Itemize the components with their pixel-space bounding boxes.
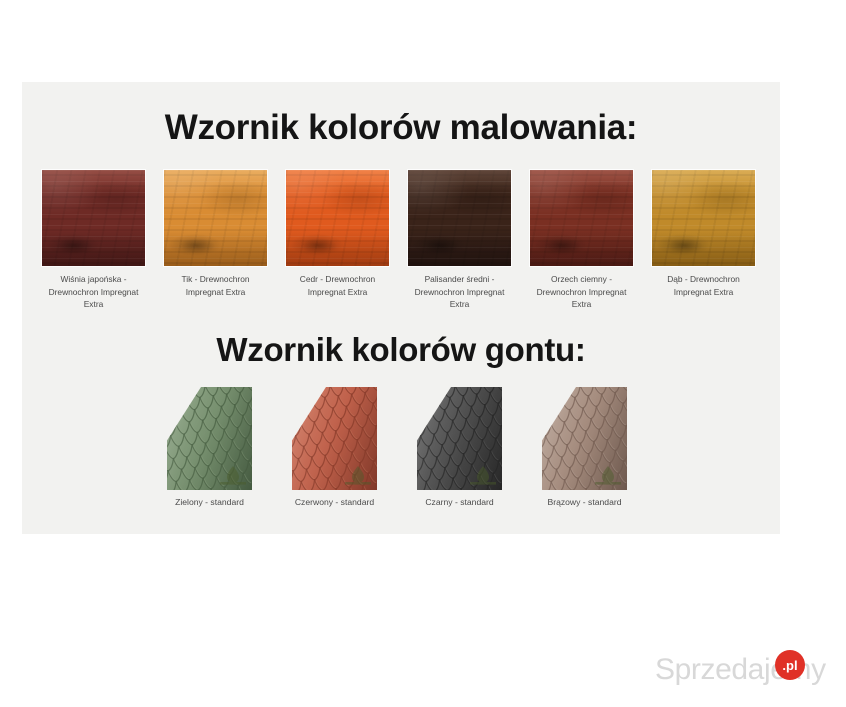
wood-swatch-chip[interactable] <box>164 170 267 266</box>
paint-swatch-cell[interactable]: Tik - Drewnochron Impregnat Extra <box>164 170 267 311</box>
wood-sheen-overlay <box>286 170 389 266</box>
wood-sheen-overlay <box>652 170 755 266</box>
wood-swatch-chip[interactable] <box>530 170 633 266</box>
paint-swatch-cell[interactable]: Orzech ciemny - Drewnochron Impregnat Ex… <box>530 170 633 311</box>
shingle-swatch-cell[interactable]: Czarny - standard <box>417 387 502 509</box>
shingle-brand-watermark-icon <box>218 464 248 486</box>
shingle-swatch-label: Brązowy - standard <box>542 496 627 509</box>
shingle-brand-watermark-icon <box>468 464 498 486</box>
shingle-brand-watermark-icon <box>343 464 373 486</box>
shingle-swatch-chip[interactable] <box>167 387 252 490</box>
sprzedajemy-watermark: Sprzedajemy .pl <box>655 650 825 695</box>
wood-swatch-chip[interactable] <box>286 170 389 266</box>
shingle-swatch-cell[interactable]: Brązowy - standard <box>542 387 627 509</box>
paint-swatch-label: Wiśnia japońska - Drewnochron Impregnat … <box>42 273 145 311</box>
paint-swatch-cell[interactable]: Wiśnia japońska - Drewnochron Impregnat … <box>42 170 145 311</box>
paint-swatch-label: Orzech ciemny - Drewnochron Impregnat Ex… <box>530 273 633 311</box>
shingle-swatch-chip[interactable] <box>292 387 377 490</box>
paint-swatch-cell[interactable]: Dąb - Drewnochron Impregnat Extra <box>652 170 755 311</box>
watermark-badge: .pl <box>775 650 805 680</box>
shingle-swatch-chip[interactable] <box>542 387 627 490</box>
shingle-brand-watermark-icon <box>593 464 623 486</box>
wood-sheen-overlay <box>42 170 145 266</box>
shingle-swatch-label: Czarny - standard <box>417 496 502 509</box>
shingle-swatch-cell[interactable]: Czerwony - standard <box>292 387 377 509</box>
wood-swatch-chip[interactable] <box>408 170 511 266</box>
wood-swatch-chip[interactable] <box>42 170 145 266</box>
paint-swatch-label: Tik - Drewnochron Impregnat Extra <box>164 273 267 298</box>
shingle-swatch-label: Zielony - standard <box>167 496 252 509</box>
color-sample-panel: Wzornik kolorów malowania: Wiśnia japońs… <box>22 82 780 534</box>
shingle-swatch-cell[interactable]: Zielony - standard <box>167 387 252 509</box>
paint-swatch-label: Cedr - Drewnochron Impregnat Extra <box>286 273 389 298</box>
paint-swatch-cell[interactable]: Cedr - Drewnochron Impregnat Extra <box>286 170 389 311</box>
paint-swatch-label: Dąb - Drewnochron Impregnat Extra <box>652 273 755 298</box>
wood-sheen-overlay <box>530 170 633 266</box>
wood-swatch-chip[interactable] <box>652 170 755 266</box>
paint-swatch-cell[interactable]: Palisander średni - Drewnochron Impregna… <box>408 170 511 311</box>
paint-swatch-row: Wiśnia japońska - Drewnochron Impregnat … <box>42 170 760 311</box>
watermark-badge-text: .pl <box>782 659 797 672</box>
paint-swatch-label: Palisander średni - Drewnochron Impregna… <box>408 273 511 311</box>
shingle-swatch-chip[interactable] <box>417 387 502 490</box>
shingle-swatch-label: Czerwony - standard <box>292 496 377 509</box>
shingle-section-title: Wzornik kolorów gontu: <box>22 332 780 368</box>
shingle-swatch-row: Zielony - standard Czerwony - standard C… <box>167 387 667 509</box>
wood-sheen-overlay <box>408 170 511 266</box>
wood-sheen-overlay <box>164 170 267 266</box>
paint-section-title: Wzornik kolorów malowania: <box>22 109 780 147</box>
